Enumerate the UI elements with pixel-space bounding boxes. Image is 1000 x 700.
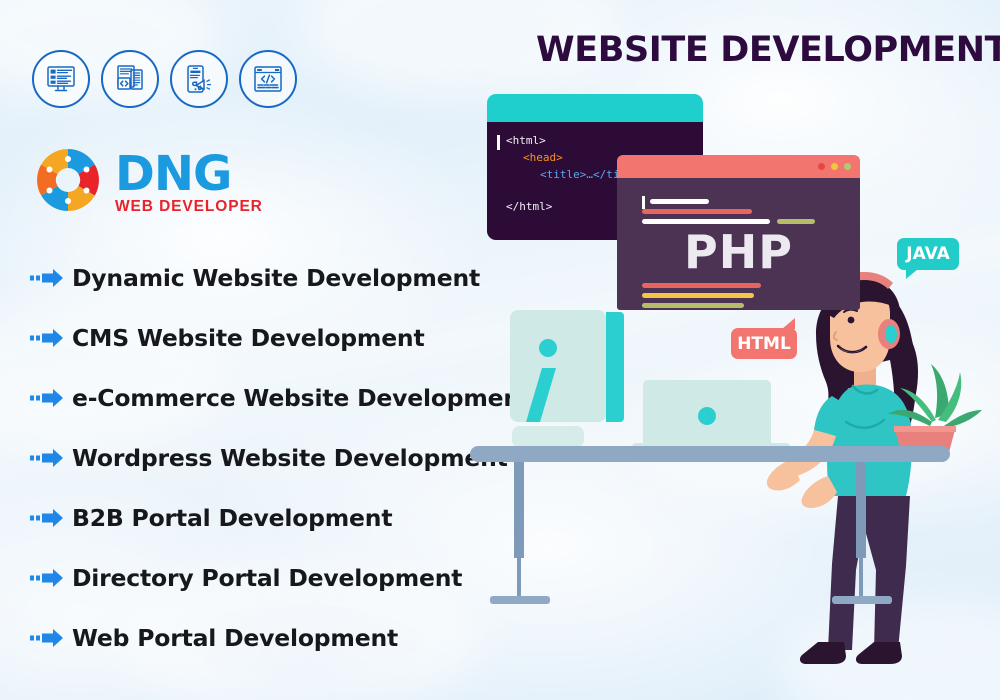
service-label: e-Commerce Website Development (72, 384, 531, 412)
brand-logo[interactable]: DNG WEB DEVELOPER (30, 142, 263, 218)
java-badge[interactable]: JAVA (897, 238, 959, 270)
php-window-body: PHP (617, 178, 860, 310)
service-label: Web Portal Development (72, 624, 398, 652)
brand-tagline: WEB DEVELOPER (115, 199, 263, 215)
monitor-webpage-icon[interactable] (32, 50, 90, 108)
code-line: <html> (487, 132, 703, 149)
document-code-icon[interactable] (101, 50, 159, 108)
code-bar (642, 209, 752, 214)
mobile-megaphone-icon[interactable] (170, 50, 228, 108)
code-bar (642, 283, 761, 288)
text-caret (497, 135, 500, 150)
browser-code-icon[interactable] (239, 50, 297, 108)
laptop-illustration (632, 380, 790, 451)
arrow-bullet-icon (30, 567, 64, 589)
php-window-titlebar (617, 155, 860, 178)
code-bar (642, 303, 744, 308)
arrow-bullet-icon (30, 627, 64, 649)
page-title: WEBSITE DEVELOPMENT (536, 30, 976, 70)
desktop-monitor-illustration (510, 310, 624, 448)
service-label: Directory Portal Development (72, 564, 462, 592)
window-close-dot[interactable] (818, 163, 825, 170)
service-icon-row (32, 50, 297, 108)
service-label: B2B Portal Development (72, 504, 392, 532)
arrow-bullet-icon (30, 507, 64, 529)
code-bar (650, 199, 709, 204)
php-label: PHP (617, 225, 860, 279)
brand-name: DNG (115, 150, 263, 198)
window-maximize-dot[interactable] (844, 163, 851, 170)
html-window-titlebar (487, 94, 703, 122)
arrow-bullet-icon (30, 267, 64, 289)
service-label: Wordpress Website Development (72, 444, 508, 472)
html-badge-label: HTML (737, 334, 791, 354)
speech-tail (906, 269, 918, 279)
service-label: CMS Website Development (72, 324, 425, 352)
php-code-window: PHP (617, 155, 860, 310)
window-minimize-dot[interactable] (831, 163, 838, 170)
dng-pinwheel-icon (30, 142, 106, 218)
arrow-bullet-icon (30, 327, 64, 349)
html-badge[interactable]: HTML (731, 328, 797, 359)
arrow-bullet-icon (30, 387, 64, 409)
code-bar (777, 219, 815, 224)
workspace-illustration (470, 250, 1000, 700)
speech-tail (782, 318, 795, 329)
arrow-bullet-icon (30, 447, 64, 469)
service-label: Dynamic Website Development (72, 264, 480, 292)
code-bar (642, 293, 754, 298)
code-bar (642, 219, 770, 224)
text-caret (642, 196, 645, 209)
java-badge-label: JAVA (906, 244, 950, 264)
poster-canvas: DNG WEB DEVELOPER Dynamic Website Develo… (0, 0, 1000, 700)
